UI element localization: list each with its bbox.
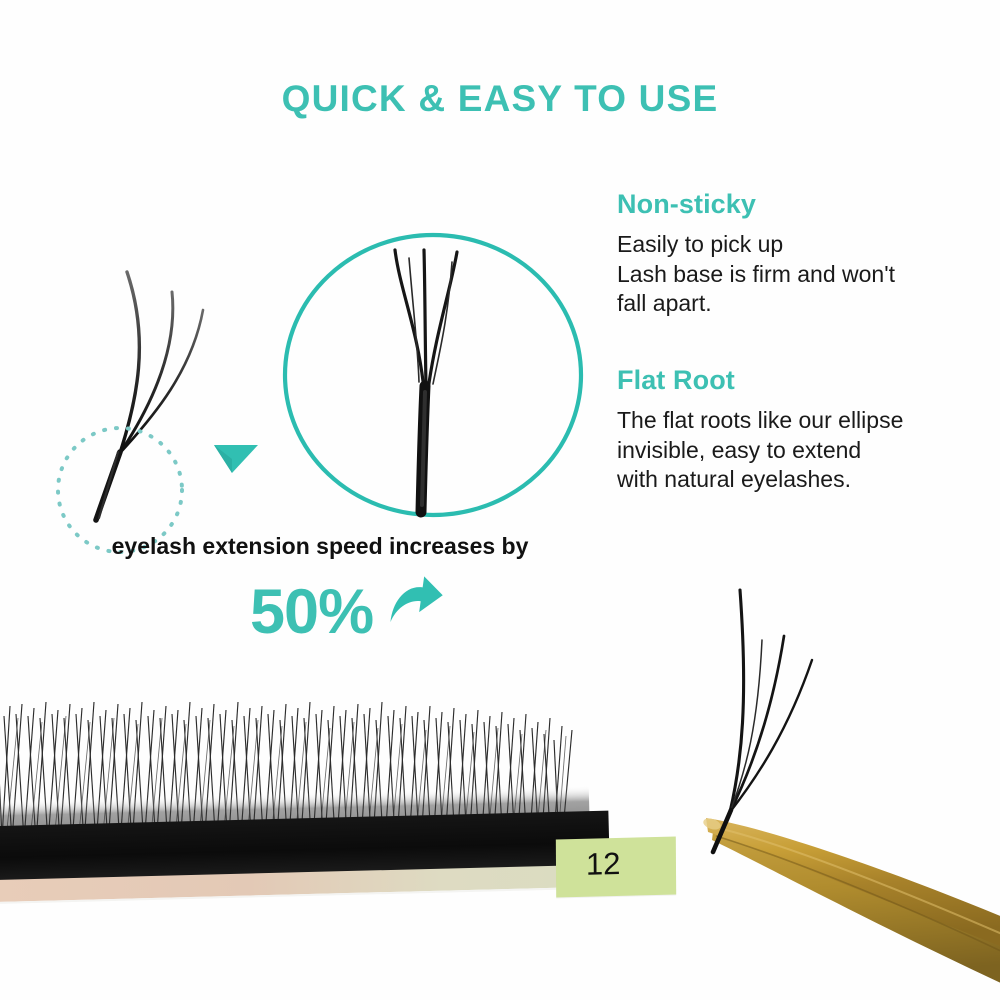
- tweezers-holding-lash-photo: [702, 590, 1000, 985]
- magnified-flat-root-lash-icon: [395, 250, 457, 512]
- lash-tray-size-label: 12: [556, 837, 676, 898]
- lash-fan-icon: [96, 272, 203, 520]
- feature-body-line: The flat roots like our ellipse: [617, 406, 992, 435]
- triangle-pointer-shadow-icon: [214, 445, 232, 473]
- feature-heading: Flat Root: [617, 366, 992, 394]
- magnifier-ellipse-icon: [285, 235, 581, 515]
- feature-heading: Non-sticky: [617, 190, 992, 218]
- feature-body-line: Easily to pick up: [617, 230, 992, 259]
- feature-body-line: invisible, easy to extend: [617, 436, 992, 465]
- lash-tray-size-value: 12: [586, 846, 621, 883]
- feature-body-line: fall apart.: [617, 289, 992, 318]
- page-title: QUICK & EASY TO USE: [0, 78, 1000, 120]
- triangle-pointer-icon: [214, 445, 258, 473]
- percent-value: 50%: [250, 581, 373, 644]
- curved-up-arrow-icon: [387, 574, 451, 638]
- feature-block-non-sticky: Non-sticky Easily to pick up Lash base i…: [617, 190, 992, 318]
- infographic-page: QUICK & EASY TO USE: [0, 0, 1000, 1000]
- percent-callout: 50%: [250, 572, 570, 652]
- feature-body-line: Lash base is firm and won't: [617, 260, 992, 289]
- feature-body: The flat roots like our ellipse invisibl…: [617, 406, 992, 494]
- speed-tagline: eyelash extension speed increases by: [0, 533, 640, 560]
- feature-block-flat-root: Flat Root The flat roots like our ellips…: [617, 366, 992, 494]
- feature-body-line: with natural eyelashes.: [617, 465, 992, 494]
- feature-body: Easily to pick up Lash base is firm and …: [617, 230, 992, 318]
